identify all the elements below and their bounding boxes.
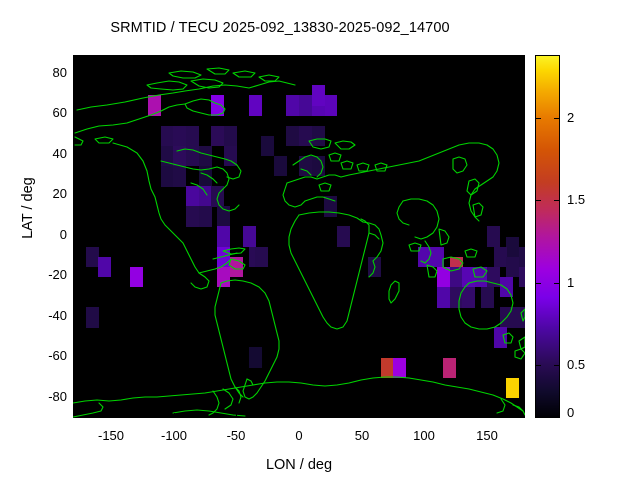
ytick-label: -80 [31,390,67,403]
colorbar-tick [536,200,541,201]
colorbar-label: 1.5 [567,193,612,206]
ytick-label: 60 [31,106,67,119]
xtick-mark [424,413,425,418]
ytick-mark [73,274,78,275]
colorbar-tick [554,365,559,366]
xtick-label: 150 [457,429,517,442]
xtick-label: 100 [394,429,454,442]
ytick-mark [73,355,78,356]
colorbar-label: 1 [567,276,612,289]
ytick-mark [73,234,78,235]
colorbar-tick [536,118,541,119]
xtick-mark [174,413,175,418]
map-plot-area [73,55,525,418]
xtick-mark [362,413,363,418]
colorbar-tick [554,283,559,284]
ytick-mark [73,396,78,397]
xtick-mark [236,413,237,418]
xtick-label: -150 [81,429,141,442]
ytick-label: 20 [31,187,67,200]
xtick-mark [487,413,488,418]
x-axis-label: LON / deg [73,457,525,473]
colorbar-label: 2 [567,111,612,124]
ytick-label: 0 [31,228,67,241]
xtick-label: 0 [269,429,329,442]
ytick-mark [73,112,78,113]
ytick-label: -40 [31,309,67,322]
ytick-mark [73,72,78,73]
xtick-mark [111,413,112,418]
xtick-label: 50 [332,429,392,442]
xtick-label: -100 [144,429,204,442]
xtick-mark [299,413,300,418]
ytick-label: 40 [31,147,67,160]
xtick-label: -50 [206,429,266,442]
ytick-label: 80 [31,66,67,79]
ytick-label: -20 [31,268,67,281]
coastline-layer [73,55,525,418]
ytick-label: -60 [31,349,67,362]
colorbar-tick [554,200,559,201]
colorbar-tick [536,283,541,284]
colorbar-label: 0.5 [567,358,612,371]
ytick-mark [73,193,78,194]
colorbar-label: 0 [567,406,612,419]
figure-root: SRMTID / TECU 2025-092_13830-2025-092_14… [0,0,640,480]
ytick-mark [73,315,78,316]
page-title: SRMTID / TECU 2025-092_13830-2025-092_14… [0,20,560,36]
colorbar-tick [536,365,541,366]
y-axis-label: LAT / deg [20,133,36,283]
colorbar-tick [554,118,559,119]
ytick-mark [73,153,78,154]
colorbar [535,55,560,418]
